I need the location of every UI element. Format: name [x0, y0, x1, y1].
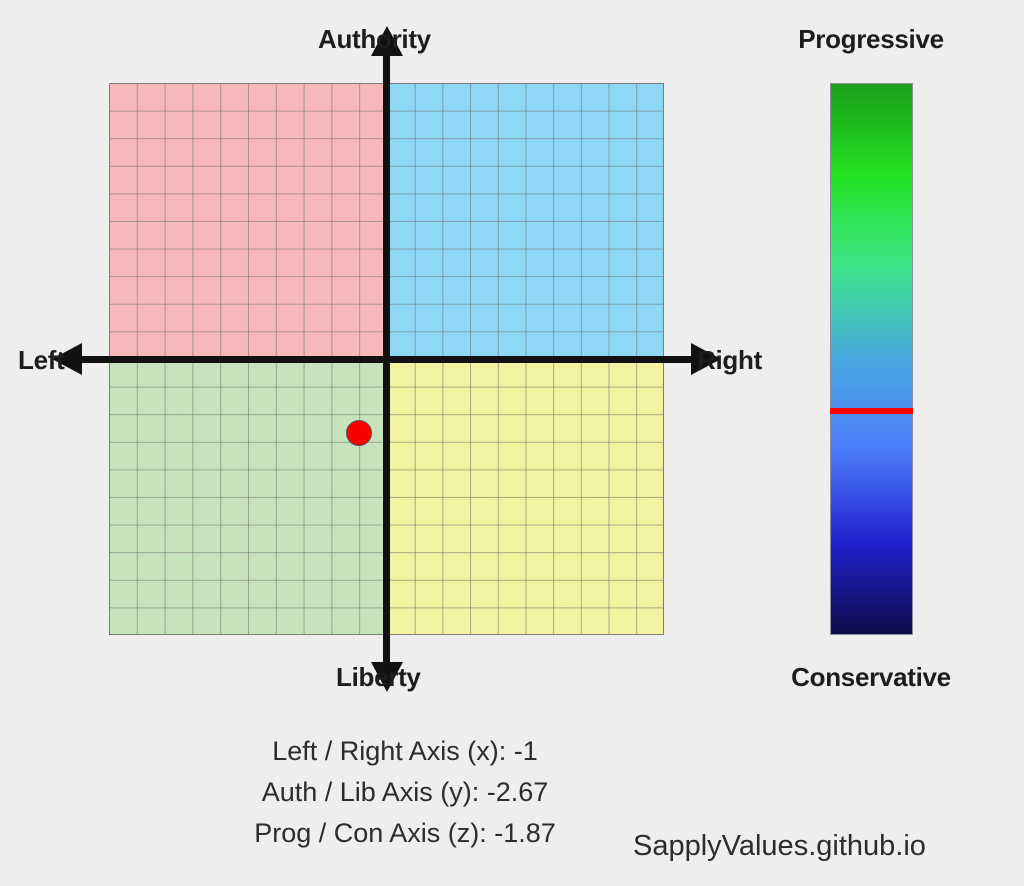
- axis-label-right: Right: [697, 345, 762, 376]
- prog-con-scale: [830, 83, 913, 635]
- user-result-point: [346, 420, 372, 446]
- quadrant-authoritarian-left: [109, 83, 387, 359]
- compass-plot: [109, 83, 664, 635]
- readout-x: Left / Right Axis (x): -1: [0, 731, 810, 772]
- prog-con-marker: [830, 408, 913, 414]
- political-compass-figure: Authority Liberty Left Right Progressive…: [0, 0, 1024, 886]
- axis-label-liberty: Liberty: [336, 662, 421, 693]
- readout-y: Auth / Lib Axis (y): -2.67: [0, 772, 810, 813]
- y-axis-line: [383, 54, 390, 664]
- scale-label-progressive: Progressive: [721, 24, 1021, 55]
- quadrant-libertarian-right: [387, 359, 665, 635]
- axis-label-left: Left: [18, 345, 64, 376]
- axis-label-authority: Authority: [318, 24, 431, 55]
- site-watermark: SapplyValues.github.io: [633, 830, 926, 863]
- quadrant-libertarian-left: [109, 359, 387, 635]
- prog-con-gradient-bar: [830, 83, 913, 635]
- scale-label-conservative: Conservative: [721, 662, 1021, 693]
- quadrant-authoritarian-right: [387, 83, 665, 359]
